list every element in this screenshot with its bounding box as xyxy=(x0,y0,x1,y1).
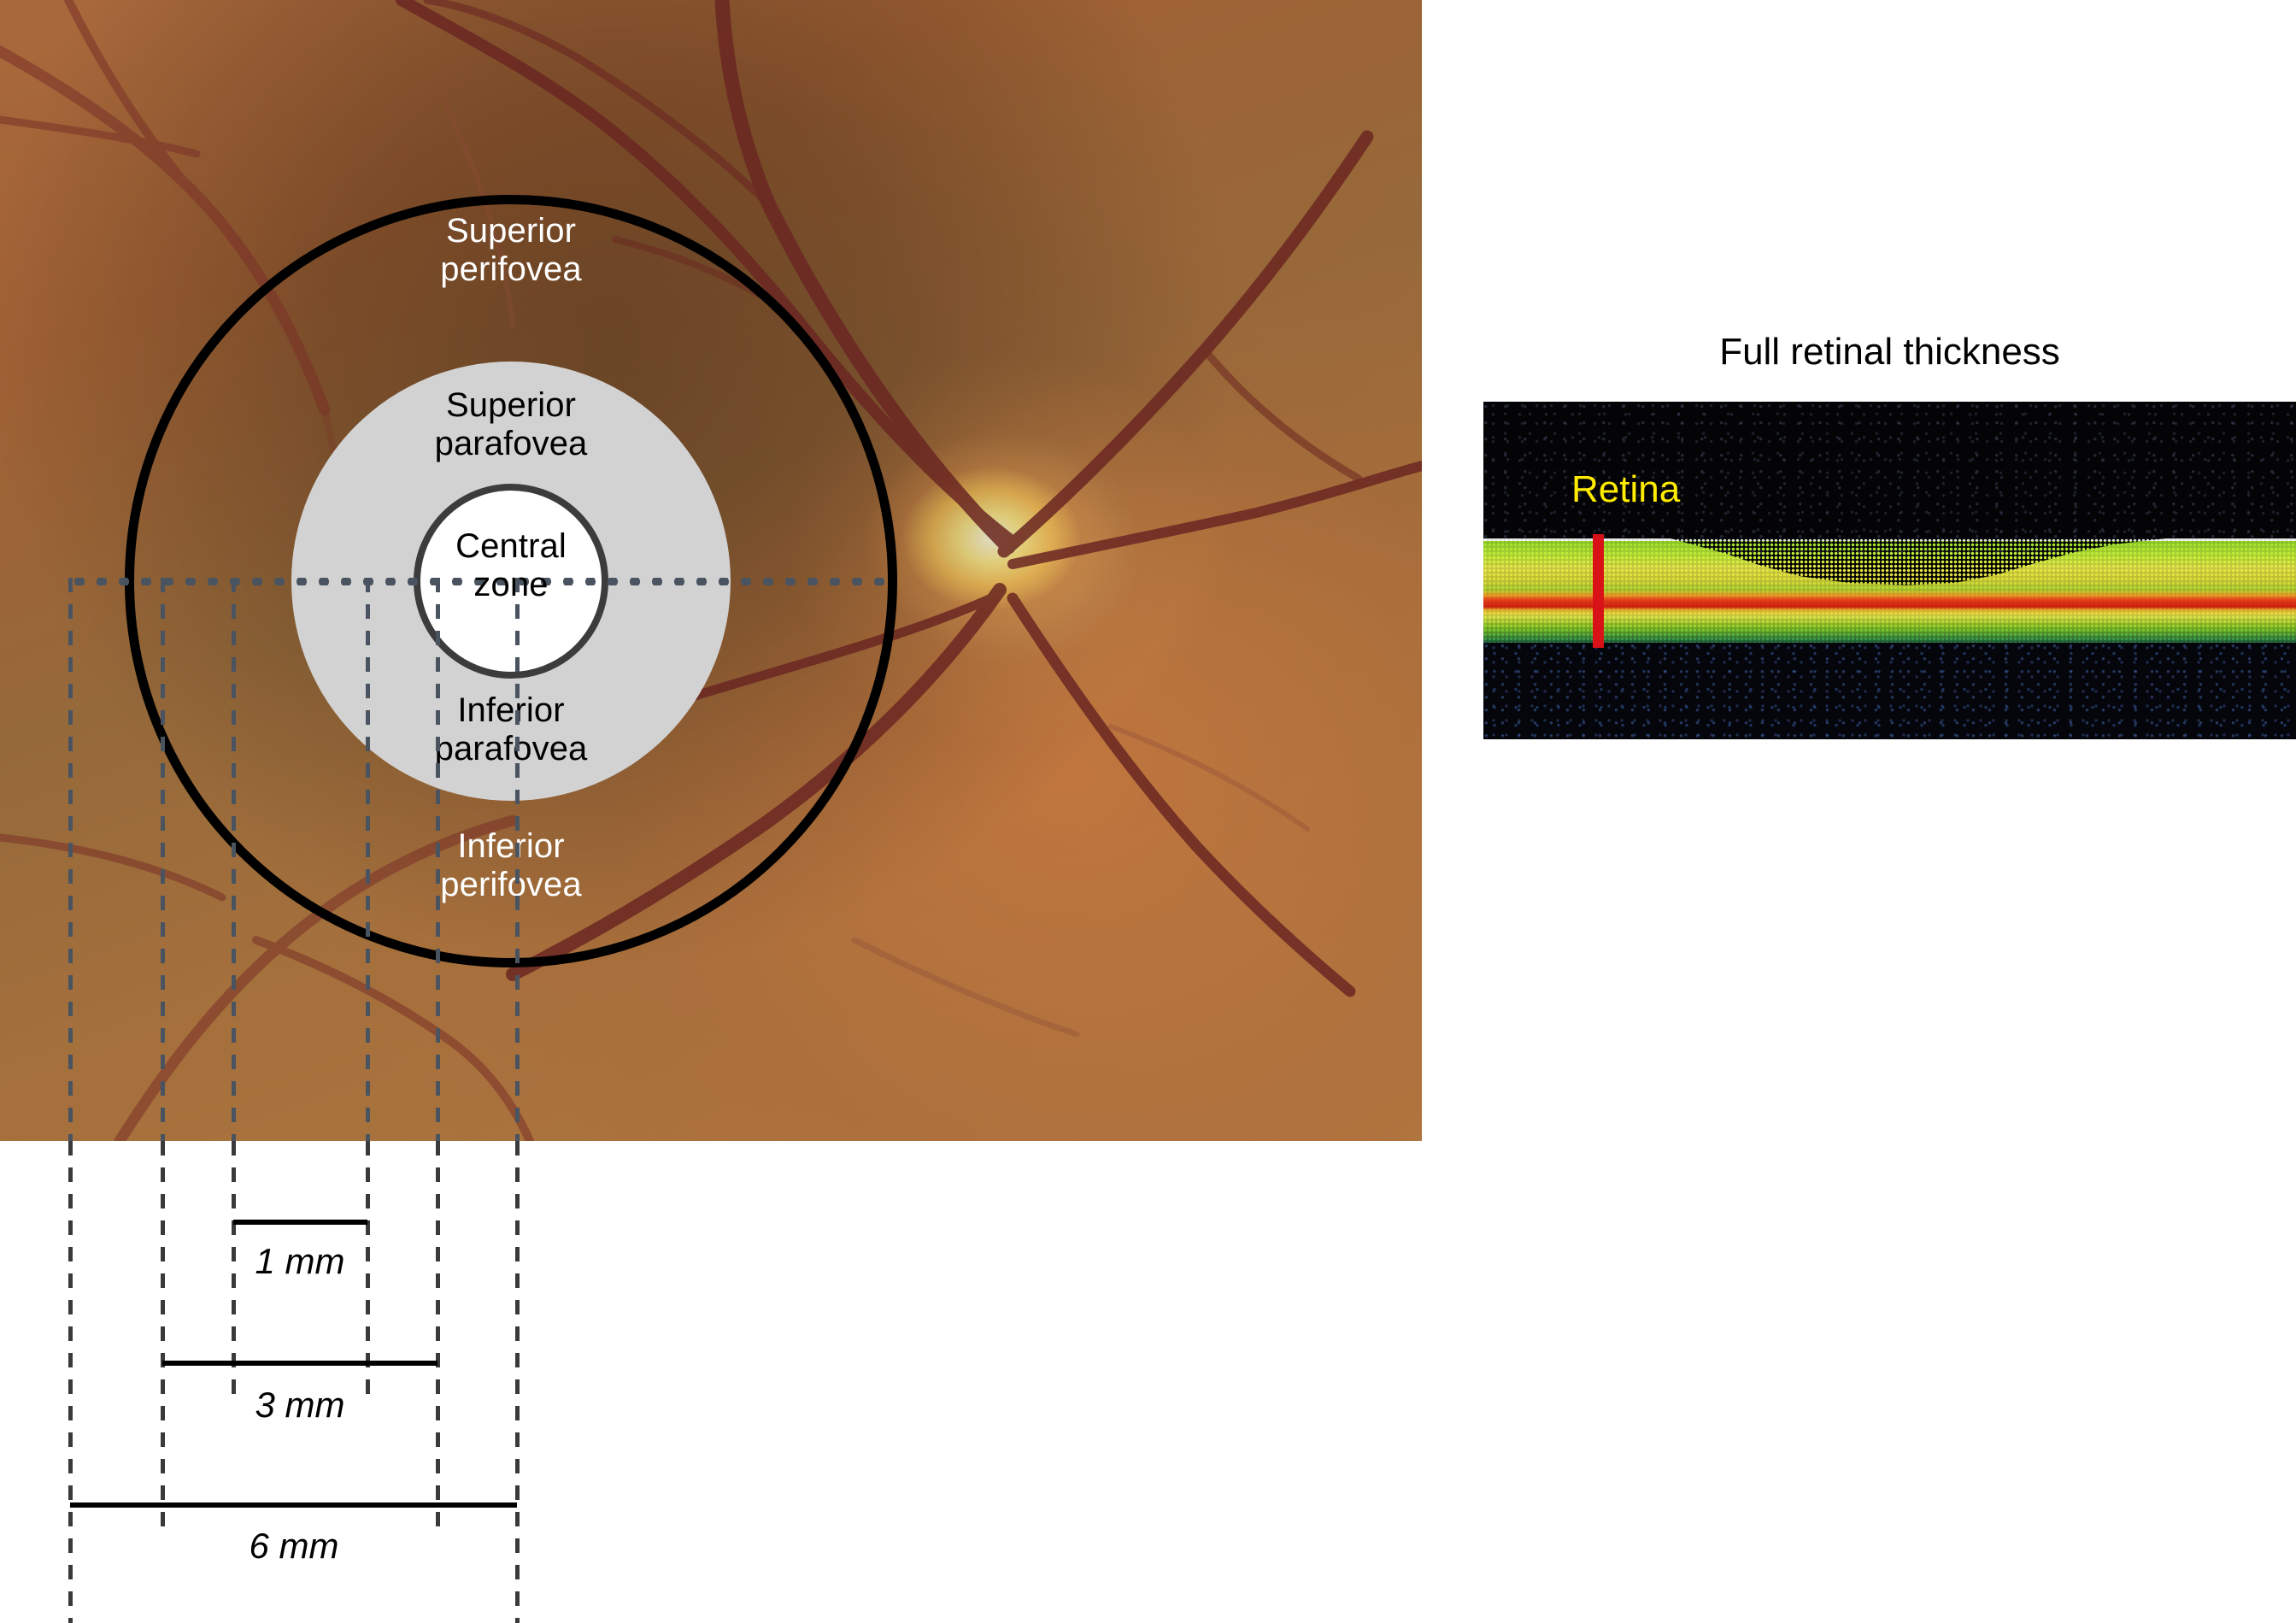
oct-thickness-marker xyxy=(1593,534,1604,648)
guide-line-6mm-right-upper xyxy=(515,578,520,1141)
oct-bscan-image: Retina xyxy=(1483,402,2296,739)
guide-line-3mm-right xyxy=(436,1141,440,1538)
scale-bar-3mm-label: 3 mm xyxy=(172,1385,428,1426)
label-inferior-perifovea: Inferior perifovea xyxy=(340,827,682,904)
guide-line-6mm-left xyxy=(68,1141,73,1623)
label-superior-parafovea: Superior parafovea xyxy=(340,386,682,463)
guide-line-6mm-left-upper xyxy=(68,578,73,1141)
guide-line-3mm-left-upper xyxy=(161,578,165,1141)
guide-line-1mm-left-upper xyxy=(232,578,236,1141)
oct-panel-title: Full retinal thickness xyxy=(1483,331,2296,373)
guide-line-1mm-right-upper xyxy=(366,578,370,1141)
scale-bar-6mm-line xyxy=(70,1502,517,1508)
guide-line-6mm-right xyxy=(515,1141,520,1623)
label-superior-perifovea: Superior perifovea xyxy=(340,212,682,289)
scale-bar-6mm-label: 6 mm xyxy=(166,1526,422,1567)
scale-bar-1mm-label: 1 mm xyxy=(172,1241,428,1282)
guide-line-3mm-left xyxy=(161,1141,165,1538)
label-central-zone: Central zone xyxy=(385,527,637,604)
guide-line-3mm-right-upper xyxy=(436,578,440,1141)
label-inferior-parafovea: Inferior parafovea xyxy=(340,691,682,768)
scale-bar-3mm-line xyxy=(162,1361,437,1366)
oct-choroid-region xyxy=(1483,643,2296,739)
scale-bar-1mm-line xyxy=(233,1220,367,1225)
oct-retina-label: Retina xyxy=(1571,468,1680,511)
fundus-photograph-panel: Superior perifovea Superior parafovea Ce… xyxy=(0,0,1422,1141)
